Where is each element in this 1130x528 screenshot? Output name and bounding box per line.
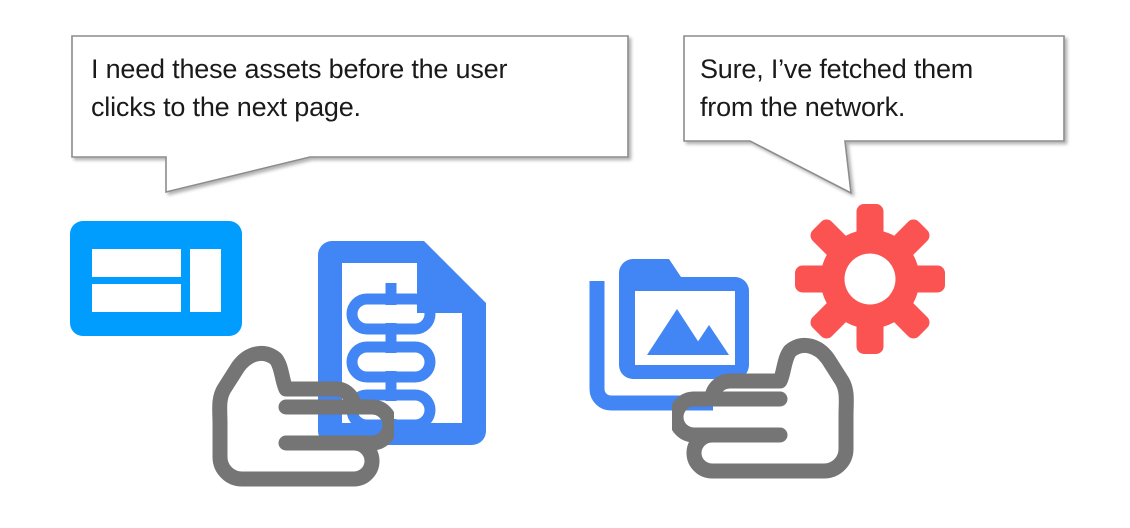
- speech-bubble-2-text: Sure, I’ve fetched them from the network…: [700, 50, 1050, 126]
- gear-icon: [795, 204, 945, 354]
- gear-center-hole: [845, 254, 896, 305]
- window-layout-icon: [70, 221, 242, 336]
- illustration-canvas: I need these assets before the user clic…: [0, 0, 1130, 528]
- hand-pointing-left-icon: [672, 337, 854, 482]
- hand-right-palm-outline: [676, 345, 846, 471]
- window-layout-panel-bottom-left: [92, 284, 181, 312]
- hand-left-palm-outline: [220, 353, 390, 479]
- speech-bubble-1-text: I need these assets before the user clic…: [91, 50, 611, 126]
- window-layout-panel-top-left: [92, 249, 181, 277]
- window-layout-panel-right: [190, 249, 221, 312]
- hand-pointing-right-icon: [212, 345, 394, 490]
